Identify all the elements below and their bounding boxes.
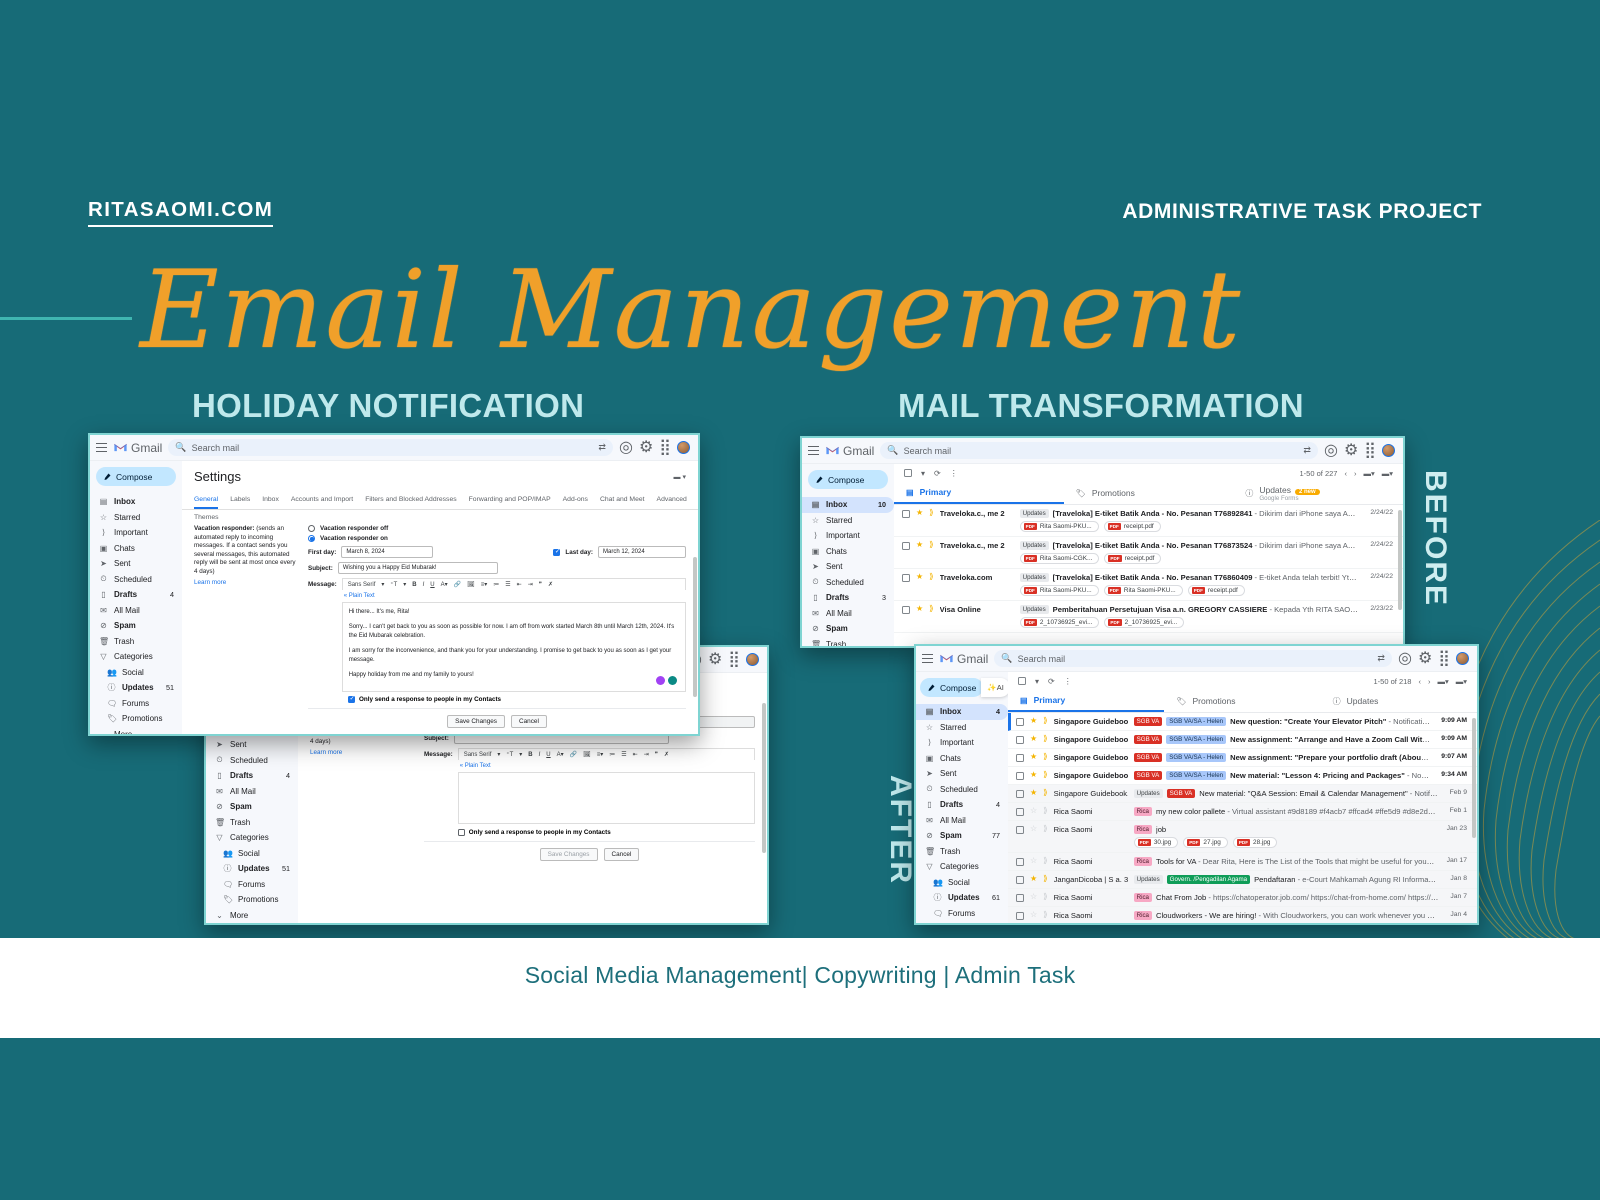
star-icon[interactable]: ☆ [1030,893,1037,901]
row-checkbox[interactable] [1016,790,1024,798]
indent-more-icon[interactable]: ⇥ [528,581,533,588]
table-row[interactable]: ★⟫Traveloka.c., me 2Updates[Traveloka] E… [894,505,1403,537]
row-checkbox[interactable] [1016,876,1024,884]
label-chip[interactable]: Updates [1020,573,1049,582]
sidebar-item-categories[interactable]: ▽Categories [206,830,298,846]
table-row[interactable]: ☆⟫Rica SaomiRicajobPDF30.jpgPDF27.jpgPDF… [1008,821,1477,853]
first-day-input[interactable]: March 8, 2024 [341,546,433,558]
sidebar-item-all-mail[interactable]: ✉All Mail [206,784,298,800]
email-list-before: ★⟫Traveloka.c., me 2Updates[Traveloka] E… [894,505,1403,633]
sidebar-item-updates[interactable]: ⓘUpdates51 [90,680,182,696]
table-row[interactable]: ★⟫Singapore Guidebook.SGB VASGB VA/SA - … [1008,749,1477,767]
gear-icon[interactable]: ⚙ [639,440,653,456]
sidebar-item-categories[interactable]: ▽Categories [90,649,182,665]
star-icon[interactable]: ★ [1030,789,1037,797]
compose-button[interactable]: Compose [808,470,888,489]
vacation-off-radio-row[interactable]: Vacation responder off [308,525,686,532]
sidebar-item-more[interactable]: ⌄More [90,727,182,737]
label-chip[interactable]: Rica [1134,911,1152,920]
table-row[interactable]: ★⟫Traveloka.comUpdates[Traveloka] E-tike… [894,569,1403,601]
row-checkbox[interactable] [1016,894,1024,902]
subject-input[interactable]: Wishing you a Happy Eid Mubarak! [338,562,498,574]
vacation-desc-text: (sends an automated reply to incoming me… [194,525,296,575]
density-icon[interactable]: ▬ ▾ [674,473,686,481]
insert-image-icon[interactable]: 🖼 [467,581,475,588]
sidebar-item-drafts[interactable]: ▯Drafts3 [802,590,894,606]
help-icon[interactable]: ◎ [1324,443,1338,459]
label-chip[interactable]: Updates [1134,789,1163,798]
font-size-icon[interactable]: ⁺T [390,581,397,588]
sidebar-item-promotions[interactable]: 🏷Promotions [916,921,1008,925]
sidebar-item-social[interactable]: 👥Social [206,846,298,862]
gmail-inbox-after-window[interactable]: Gmail 🔍 Search mail ⇄ ◎ ⚙ ⣿ Compose ✨ [914,644,1479,925]
row-checkbox[interactable] [1016,826,1024,834]
label-chip[interactable]: Rica [1134,857,1152,866]
apps-grid-icon[interactable]: ⣿ [728,652,740,668]
star-icon[interactable]: ★ [1030,753,1037,761]
table-row[interactable]: ★⟫JanganDicoba | S a. 3UpdatesGovern. /P… [1008,871,1477,889]
file-type-icon: PDF [1108,587,1121,594]
search-input[interactable]: 🔍 Search mail ⇄ [994,650,1392,667]
attachment-chip[interactable]: PDFreceipt.pdf [1188,585,1245,596]
sender-name: Singapore Guidebook. [1054,789,1128,798]
save-button[interactable]: Save Changes [540,848,598,861]
sidebar-item-more[interactable]: ⌄More [206,908,298,924]
star-icon[interactable]: ★ [1030,735,1037,743]
row-checkbox[interactable] [902,510,910,518]
quote-icon[interactable]: ❞ [539,581,542,588]
settings-tabs[interactable]: GeneralLabelsInboxAccounts and ImportFil… [182,489,698,510]
sidebar-item-trash[interactable]: 🗑Trash [802,637,894,649]
sidebar-item-categories[interactable]: ▽Categories [916,859,1008,875]
spam-icon: ⊘ [99,621,108,630]
star-icon[interactable]: ★ [916,573,923,581]
table-row[interactable]: ★⟫Traveloka.c., me 2Updates[Traveloka] E… [894,537,1403,569]
prev-page-icon[interactable]: ‹ [1418,677,1421,686]
sidebar-item-trash[interactable]: 🗑Trash [206,815,298,831]
help-icon[interactable]: ◎ [619,440,633,456]
sidebar-item-forums[interactable]: 🗨Forums [90,696,182,712]
label-chip[interactable]: SGB VA [1134,735,1163,744]
sidebar-item-spam[interactable]: ⊘Spam [90,618,182,634]
sidebar-item-spam[interactable]: ⊘Spam77 [916,828,1008,844]
tab-promotions[interactable]: 🏷Promotions [1164,690,1320,712]
cancel-button[interactable]: Cancel [511,715,547,728]
gear-icon[interactable]: ⚙ [708,652,722,668]
align-icon[interactable]: ≡▾ [597,751,604,758]
sidebar-item-starred[interactable]: ☆Starred [802,513,894,529]
email-list-after: ★⟫Singapore Guidebook.SGB VASGB VA/SA - … [1008,713,1477,925]
select-all-checkbox[interactable] [1018,677,1026,685]
tab-updates[interactable]: ⓘUpdates2 newGoogle Forms [1233,482,1403,504]
contacts-checkbox[interactable] [348,696,355,703]
chevron-down-icon-2[interactable]: ▾ [519,751,522,758]
sparkle-icon: ✨ [987,683,996,692]
themes-label[interactable]: Themes [182,510,698,525]
quote-icon[interactable]: ❞ [655,751,658,758]
density-icon[interactable]: ▬▾ [1456,677,1467,686]
compose-button[interactable]: Compose [920,678,983,697]
message-editor-toolbar[interactable]: Sans Serif ▾ ⁺T ▾ B I U A▾ 🔗 🖼 ≡▾ [342,578,686,590]
underline-icon[interactable]: U [430,582,434,588]
sender-name: Rica Saomi [1054,825,1128,834]
important-icon[interactable]: ⟫ [1043,825,1047,833]
attachment-chip[interactable]: PDFreceipt.pdf [1104,553,1161,564]
scrollbar[interactable] [762,703,766,853]
sidebar-item-forums[interactable]: 🗨Forums [916,906,1008,922]
row-checkbox[interactable] [1016,808,1024,816]
avatar[interactable] [1382,444,1395,457]
link-icon[interactable]: 🔗 [570,751,577,758]
sidebar-item-forums[interactable]: 🗨Forums [206,877,298,893]
sidebar-item-social[interactable]: 👥Social [916,875,1008,891]
label-chip[interactable]: Updates [1020,509,1049,518]
numbered-list-icon[interactable]: ≔ [493,581,499,588]
important-icon[interactable]: ⟫ [929,605,933,613]
table-row[interactable]: ★⟫Visa OnlineUpdatesPemberitahuan Perset… [894,601,1403,633]
table-row[interactable]: ★⟫Singapore Guidebook.UpdatesSGB VANew m… [1008,785,1477,803]
message-editor-toolbar[interactable]: Sans Serif ▾ ⁺T ▾ B I U A▾ 🔗 🖼 ≡▾ [458,748,755,760]
important-icon[interactable]: ⟫ [1043,771,1047,779]
important-icon[interactable]: ⟫ [1043,875,1047,883]
label-chip[interactable]: SGB VA [1134,771,1163,780]
contacts-checkbox-row[interactable]: Only send a response to people in my Con… [348,696,686,703]
sidebar-item-promotions[interactable]: 🏷Promotions [90,711,182,727]
sidebar-item-drafts[interactable]: ▯Drafts4 [90,587,182,603]
sidebar-item-social[interactable]: 👥Social [90,665,182,681]
attachment-chip[interactable]: PDFRita Saomi-PKU... [1020,585,1099,596]
row-checkbox[interactable] [902,606,910,614]
label-chip[interactable]: SGB VA/SA - Helen [1166,753,1226,762]
tab-promotions[interactable]: 🏷Promotions [1064,482,1234,504]
table-row[interactable]: ☆⟫Rica SaomiRicaCloudworkers - We are hi… [1008,907,1477,925]
sidebar-item-important[interactable]: ⟩Important [90,525,182,541]
search-options-icon[interactable]: ⇄ [598,442,606,453]
sidebar-item-inbox[interactable]: ▤Inbox [90,494,182,510]
menu-icon[interactable] [922,654,933,663]
plain-text-link[interactable]: « Plain Text [458,760,755,772]
star-icon[interactable]: ★ [1030,875,1037,883]
menu-icon[interactable] [808,446,819,455]
star-icon[interactable]: ☆ [1030,825,1037,833]
chevron-down-icon-2[interactable]: ▾ [403,581,406,588]
star-icon[interactable]: ★ [916,605,923,613]
label-chip[interactable]: SGB VA [1134,717,1163,726]
inbox-category-tabs[interactable]: ▤Primary🏷PromotionsⓘUpdates2 newGoogle F… [894,482,1403,505]
star-icon[interactable]: ★ [1030,717,1037,725]
sidebar-item-updates[interactable]: ⓘUpdates61 [916,890,1008,906]
help-icon[interactable]: ◎ [1398,651,1412,667]
gear-icon[interactable]: ⚙ [1344,443,1358,459]
table-row[interactable]: ★⟫Singapore Guidebook.SGB VASGB VA/SA - … [1008,767,1477,785]
underline-icon[interactable]: U [546,752,550,758]
remove-format-icon[interactable]: ✗ [664,751,669,758]
star-icon[interactable]: ☆ [1030,807,1037,815]
settings-tab-general[interactable]: General [194,496,218,509]
chevron-down-icon[interactable]: ▾ [381,581,384,588]
text-color-icon[interactable]: A▾ [441,581,448,588]
sidebar-item-sent[interactable]: ➤Sent [802,559,894,575]
refresh-icon[interactable]: ⟳ [1048,677,1055,686]
settings-tab-offline[interactable]: Offline [699,496,700,509]
label-chip[interactable]: Updates [1020,605,1049,614]
attachment-chip[interactable]: PDFreceipt.pdf [1104,521,1161,532]
settings-tab-advanced[interactable]: Advanced [657,496,687,509]
scrollbar[interactable] [1472,718,1476,838]
sidebar-item-scheduled[interactable]: ⏲Scheduled [916,782,1008,798]
indent-more-icon[interactable]: ⇥ [644,751,649,758]
scrollbar[interactable] [693,557,697,697]
star-icon[interactable]: ★ [916,541,923,549]
message-body[interactable]: Hi there... It's me, Rita!Sorry... I can… [342,602,686,692]
row-checkbox[interactable] [1016,718,1024,726]
tab-primary[interactable]: ▤Primary [1008,690,1164,712]
more-options-icon[interactable]: ⋮ [1064,677,1072,686]
avatar[interactable] [746,653,759,666]
input-tools-icon[interactable]: ▬▾ [1437,677,1448,686]
sidebar-item-scheduled[interactable]: ⏲Scheduled [90,572,182,588]
email-subject: Tools for VA [1156,857,1196,866]
tab-primary[interactable]: ▤Primary [894,482,1064,504]
sidebar-item-all-mail[interactable]: ✉All Mail [916,813,1008,829]
search-options-icon[interactable]: ⇄ [1303,445,1311,456]
contacts-checkbox-row[interactable]: Only send a response to people in my Con… [458,829,755,836]
assistant-icon[interactable] [656,676,665,685]
font-size-icon[interactable]: ⁺T [506,751,513,758]
message-body[interactable] [458,772,755,824]
attachment-chip[interactable]: PDFRita Saomi-PKU... [1104,585,1183,596]
settings-tab-accounts-and-import[interactable]: Accounts and Import [291,496,353,509]
draft-icon: ▯ [215,771,224,780]
sidebar-item-starred[interactable]: ☆Starred [90,510,182,526]
table-row[interactable]: ★⟫Singapore Guidebook.SGB VASGB VA/SA - … [1008,731,1477,749]
avatar[interactable] [677,441,690,454]
indent-less-icon[interactable]: ⇤ [633,751,638,758]
label-chip[interactable]: SGB VA/SA - Helen [1166,735,1226,744]
important-icon[interactable]: ⟫ [1043,789,1047,797]
learn-more-link[interactable]: Learn more [194,579,298,588]
search-options-icon[interactable]: ⇄ [1377,653,1385,664]
refresh-icon[interactable]: ⟳ [934,469,941,478]
gear-icon[interactable]: ⚙ [1418,651,1432,667]
important-icon[interactable]: ⟫ [1043,857,1047,865]
label-chip[interactable]: Updates [1134,875,1163,884]
important-icon[interactable]: ⟫ [1043,735,1047,743]
row-checkbox[interactable] [1016,912,1024,920]
bullet-list-icon[interactable]: ☰ [505,581,510,588]
attachment-chip[interactable]: PDFRita Saomi-CGK... [1020,553,1100,564]
star-icon[interactable]: ☆ [1030,857,1037,865]
row-checkbox[interactable] [1016,858,1024,866]
chevron-down-icon[interactable]: ▾ [497,751,500,758]
plain-text-link[interactable]: « Plain Text [342,590,686,602]
chevron-down-icon[interactable]: ▾ [921,469,925,478]
sidebar-item-all-mail[interactable]: ✉All Mail [90,603,182,619]
important-icon[interactable]: ⟫ [929,573,933,581]
sidebar-item-chats[interactable]: ▣Chats [802,544,894,560]
contacts-checkbox[interactable] [458,829,465,836]
important-icon[interactable]: ⟫ [1043,717,1047,725]
row-checkbox[interactable] [902,542,910,550]
attachment-chip[interactable]: PDF30.jpg [1134,837,1179,848]
compose-button[interactable]: Compose [96,467,176,486]
important-icon[interactable]: ⟫ [929,541,933,549]
sidebar-item-important[interactable]: ⟩Important [802,528,894,544]
settings-tab-labels[interactable]: Labels [230,496,250,509]
settings-tab-forwarding-and-pop-imap[interactable]: Forwarding and POP/IMAP [469,496,551,509]
sidebar-item-spam[interactable]: ⊘Spam [206,799,298,815]
next-page-icon[interactable]: › [1428,677,1431,686]
label-chip[interactable]: SGB VA [1167,789,1196,798]
label-chip[interactable]: SGB VA/SA - Helen [1166,771,1226,780]
row-checkbox[interactable] [902,574,910,582]
sidebar-item-inbox[interactable]: ▤Inbox10 [802,497,894,513]
inbox-icon: ▤ [811,500,820,509]
avatar[interactable] [1456,652,1469,665]
apps-grid-icon[interactable]: ⣿ [659,440,671,456]
search-input[interactable]: 🔍 Search mail ⇄ [880,442,1318,459]
inbox-category-tabs[interactable]: ▤Primary🏷PromotionsⓘUpdates [1008,690,1477,713]
attachment-chip[interactable]: PDF28.jpg [1233,837,1278,848]
grammarly-icon[interactable] [668,676,677,685]
sidebar-item-scheduled[interactable]: ⏲Scheduled [206,753,298,769]
message-paragraph: Hi there... It's me, Rita! [349,608,679,618]
site-url[interactable]: RITASAOMI.COM [88,198,273,227]
file-type-icon: PDF [1138,839,1151,846]
indent-less-icon[interactable]: ⇤ [517,581,522,588]
italic-icon[interactable]: I [423,582,425,588]
label-chip[interactable]: Govern. /Pengadilan Agama [1167,875,1250,884]
star-icon[interactable]: ★ [1030,771,1037,779]
table-row[interactable]: ★⟫Singapore Guidebook.SGB VASGB VA/SA - … [1008,713,1477,731]
sidebar-item-sent[interactable]: ➤Sent [206,737,298,753]
italic-icon[interactable]: I [539,752,541,758]
settings-tab-filters-and-blocked-addresses[interactable]: Filters and Blocked Addresses [365,496,456,509]
star-icon[interactable]: ★ [916,509,923,517]
important-icon[interactable]: ⟫ [1043,893,1047,901]
attachment-chip[interactable]: PDFRita Saomi-PKU... [1020,521,1099,532]
label-chip[interactable]: SGB VA [1134,753,1163,762]
ai-button[interactable]: ✨ AI [981,678,1009,697]
select-all-checkbox[interactable] [904,469,912,477]
label-chip[interactable]: Rica [1134,825,1152,834]
row-checkbox[interactable] [1016,754,1024,762]
attachment-chip[interactable]: PDF2_10736925_evi... [1020,617,1100,628]
scrollbar[interactable] [1398,510,1402,610]
table-row[interactable]: ☆⟫Rica SaomiRicamy new color pallete - V… [1008,803,1477,821]
schedule-icon: ⏲ [811,577,820,587]
search-input[interactable]: 🔍 Search mail ⇄ [168,439,613,456]
important-icon[interactable]: ⟫ [1043,911,1047,919]
sidebar-item-scheduled[interactable]: ⏲Scheduled [802,575,894,591]
row-checkbox[interactable] [1016,772,1024,780]
vacation-on-radio-row[interactable]: Vacation responder on [308,535,686,542]
settings-tab-chat-and-meet[interactable]: Chat and Meet [600,496,645,509]
sidebar-item-trash[interactable]: 🗑Trash [916,844,1008,860]
next-page-icon[interactable]: › [1354,469,1357,478]
sidebar-item-drafts[interactable]: ▯Drafts4 [206,768,298,784]
label-chip[interactable]: Rica [1134,893,1152,902]
last-day-checkbox[interactable] [553,549,560,556]
gmail-inbox-before-window[interactable]: Gmail 🔍 Search mail ⇄ ◎ ⚙ ⣿ Compose ▤Inb… [800,436,1405,648]
label-chip[interactable]: SGB VA/SA - Helen [1166,717,1226,726]
sidebar-item-important[interactable]: ⟩Important [916,735,1008,751]
density-icon[interactable]: ▬▾ [1382,469,1393,478]
link-icon[interactable]: 🔗 [454,581,461,588]
apps-grid-icon[interactable]: ⣿ [1364,443,1376,459]
more-options-icon[interactable]: ⋮ [950,469,958,478]
file-type-icon: PDF [1108,555,1121,562]
tab-updates[interactable]: ⓘUpdates [1321,690,1477,712]
radio-off[interactable] [308,525,315,532]
apps-grid-icon[interactable]: ⣿ [1438,651,1450,667]
menu-icon[interactable] [96,443,107,452]
label-chip[interactable]: Updates [1020,541,1049,550]
table-row[interactable]: ☆⟫Rica SaomiRicaTools for VA - Dear Rita… [1008,853,1477,871]
bold-icon[interactable]: B [412,582,416,588]
text-color-icon[interactable]: A▾ [557,751,564,758]
table-row[interactable]: ☆⟫Rica SaomiRicaChat From Job - https://… [1008,889,1477,907]
sidebar-item-label: All Mail [826,609,880,618]
last-day-input[interactable]: March 12, 2024 [598,546,686,558]
align-icon[interactable]: ≡▾ [481,581,488,588]
font-select[interactable]: Sans Serif [348,582,376,588]
sidebar-item-chats[interactable]: ▣Chats [90,541,182,557]
important-icon[interactable]: ⟫ [1043,807,1047,815]
first-day-row: First day: March 8, 2024 Last day: March… [308,546,686,558]
attachment-chip[interactable]: PDF2_10736925_evi... [1104,617,1184,628]
insert-image-icon[interactable]: 🖼 [583,751,591,758]
attachment-chip[interactable]: PDF27.jpg [1183,837,1228,848]
sidebar-item-sent[interactable]: ➤Sent [90,556,182,572]
settings-tab-inbox[interactable]: Inbox [262,496,279,509]
important-icon[interactable]: ⟫ [1043,753,1047,761]
settings-tab-add-ons[interactable]: Add-ons [563,496,588,509]
numbered-list-icon[interactable]: ≔ [609,751,615,758]
sidebar-item-sent[interactable]: ➤Sent [916,766,1008,782]
row-checkbox[interactable] [1016,736,1024,744]
sidebar-item-label: Important [114,528,168,537]
chevron-down-icon[interactable]: ▾ [1035,677,1039,686]
save-button[interactable]: Save Changes [447,715,505,728]
sidebar-item-chats[interactable]: ▣Chats [916,751,1008,767]
sidebar-item-drafts[interactable]: ▯Drafts4 [916,797,1008,813]
font-select[interactable]: Sans Serif [464,752,492,758]
prev-page-icon[interactable]: ‹ [1344,469,1347,478]
sidebar-item-inbox[interactable]: ▤Inbox4 [916,704,1008,720]
star-icon: ☆ [99,513,108,522]
sidebar-item-updates[interactable]: ⓘUpdates51 [206,861,298,877]
sidebar-item-promotions[interactable]: 🏷Promotions [206,892,298,908]
bullet-list-icon[interactable]: ☰ [621,751,626,758]
label-chip[interactable]: Rica [1134,807,1152,816]
sidebar-item-trash[interactable]: 🗑Trash [90,634,182,650]
input-tools-icon[interactable]: ▬▾ [1363,469,1374,478]
bold-icon[interactable]: B [528,752,532,758]
star-icon[interactable]: ☆ [1030,911,1037,919]
learn-more-link[interactable]: Learn more [310,749,414,758]
sidebar-item-all-mail[interactable]: ✉All Mail [802,606,894,622]
remove-format-icon[interactable]: ✗ [548,581,553,588]
radio-on[interactable] [308,535,315,542]
sidebar-item-starred[interactable]: ☆Starred [916,720,1008,736]
cancel-button[interactable]: Cancel [604,848,640,861]
sidebar-item-label: More [114,730,168,736]
gmail-settings-window-after[interactable]: Gmail 🔍 Search mail ⇄ ◎ ⚙ ⣿ Compose ▤Inb… [88,433,700,736]
important-icon[interactable]: ⟫ [929,509,933,517]
sidebar-item-label: All Mail [230,787,284,796]
sidebar-item-spam[interactable]: ⊘Spam [802,621,894,637]
